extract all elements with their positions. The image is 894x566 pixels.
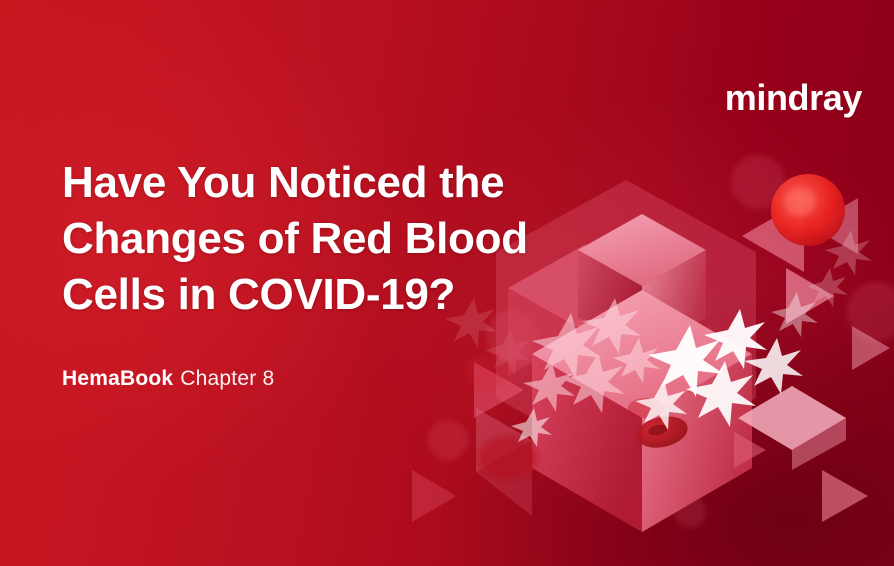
chapter-label: Chapter 8	[180, 367, 274, 390]
decor-wedge-upper-right	[742, 198, 858, 272]
isometric-cube-large	[532, 290, 752, 532]
echinocyte-cluster-right	[635, 292, 818, 430]
decor-triangles-left	[412, 362, 524, 522]
banner-root: mindray Have You Noticed the Changes of …	[0, 0, 894, 566]
headline-line-3: Cells in COVID-19?	[62, 267, 602, 323]
headline-line-2: Changes of Red Blood	[62, 211, 602, 267]
headline-line-1: Have You Noticed the	[62, 155, 602, 211]
echinocyte-bottom	[511, 408, 552, 447]
series-name: HemaBook	[62, 367, 173, 390]
echinocyte-cluster-far-right	[807, 230, 872, 307]
decor-wedge-lower-left	[476, 408, 532, 516]
page-title: Have You Noticed the Changes of Red Bloo…	[62, 155, 602, 323]
decor-triangles-right	[734, 268, 890, 522]
decor-diamond-right	[738, 386, 846, 470]
mindray-logo[interactable]: mindray	[725, 80, 862, 116]
subtitle: HemaBookChapter 8	[62, 366, 274, 391]
